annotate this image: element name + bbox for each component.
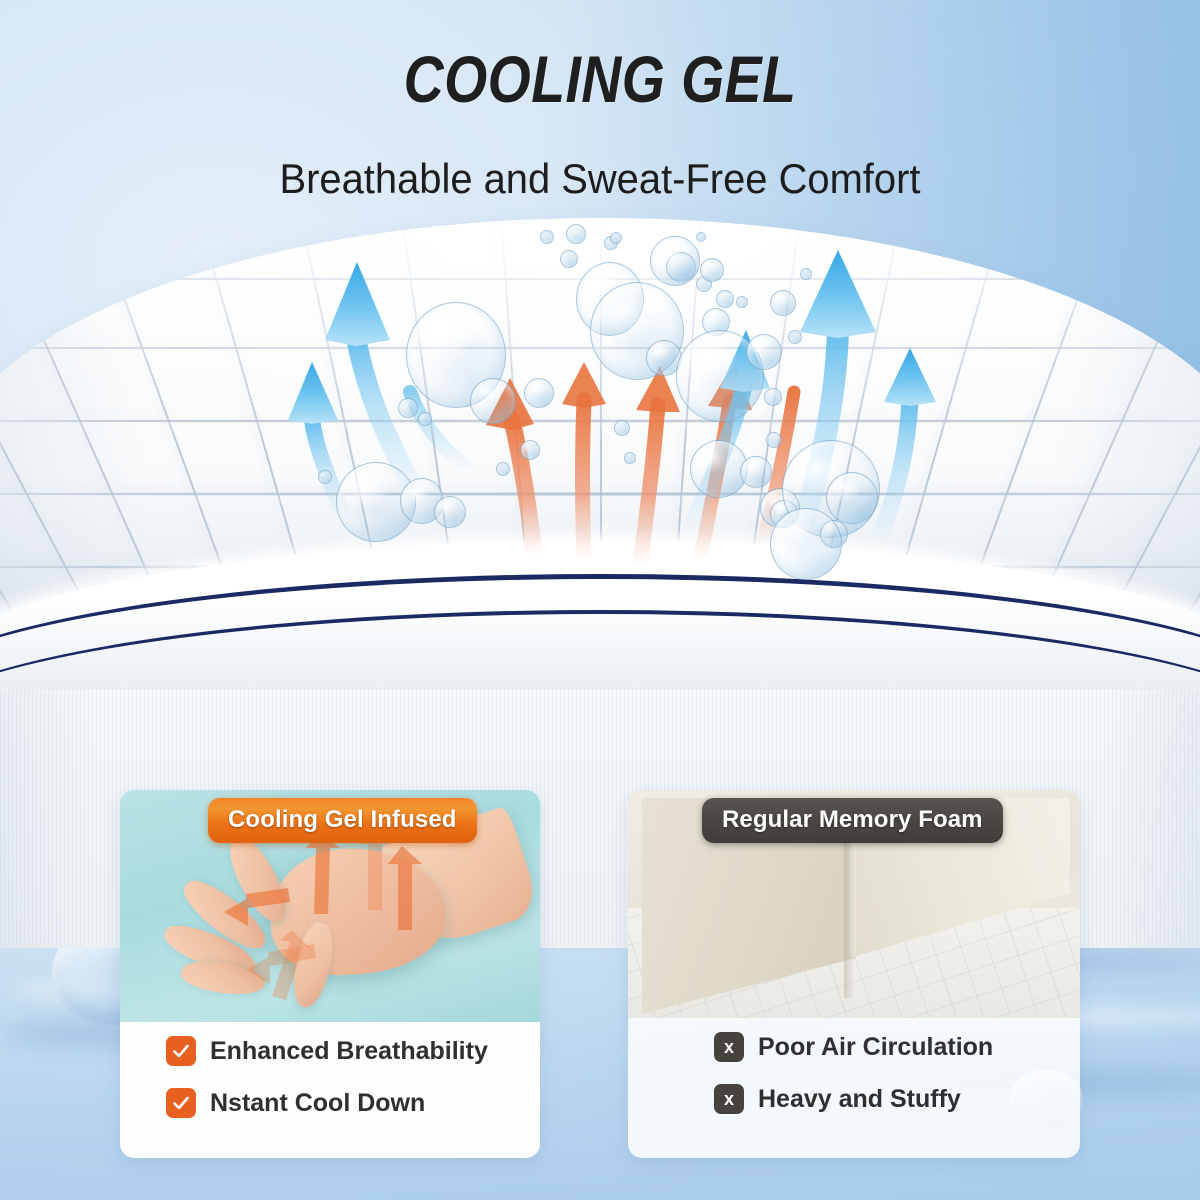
feature-label: Enhanced Breathability: [210, 1037, 488, 1066]
promo-image: COOLING GEL Breathable and Sweat-Free Co…: [0, 0, 1200, 1200]
x-icon: x: [714, 1084, 744, 1114]
feature-label: Heavy and Stuffy: [758, 1085, 961, 1114]
badge-cooling-gel: Cooling Gel Infused: [208, 798, 477, 843]
check-icon: [166, 1036, 196, 1066]
list-item: Nstant Cool Down: [166, 1088, 540, 1118]
badge-regular-foam: Regular Memory Foam: [702, 798, 1003, 843]
page-title: COOLING GEL: [96, 46, 1104, 112]
comparison-card-cooling-gel[interactable]: Cooling Gel Infused Enhanced Breathabili…: [120, 790, 540, 1158]
regular-foam-feature-list: x Poor Air Circulation x Heavy and Stuff…: [628, 1032, 1080, 1136]
feature-label: Poor Air Circulation: [758, 1033, 993, 1062]
cooling-gel-feature-list: Enhanced Breathability Nstant Cool Down: [120, 1036, 540, 1140]
check-icon: [166, 1088, 196, 1118]
comparison-card-regular-foam[interactable]: Regular Memory Foam x Poor Air Circulati…: [628, 790, 1080, 1158]
list-item: x Heavy and Stuffy: [714, 1084, 1080, 1114]
list-item: x Poor Air Circulation: [714, 1032, 1080, 1062]
page-subtitle: Breathable and Sweat-Free Comfort: [30, 158, 1170, 200]
list-item: Enhanced Breathability: [166, 1036, 540, 1066]
x-icon: x: [714, 1032, 744, 1062]
feature-label: Nstant Cool Down: [210, 1089, 425, 1118]
